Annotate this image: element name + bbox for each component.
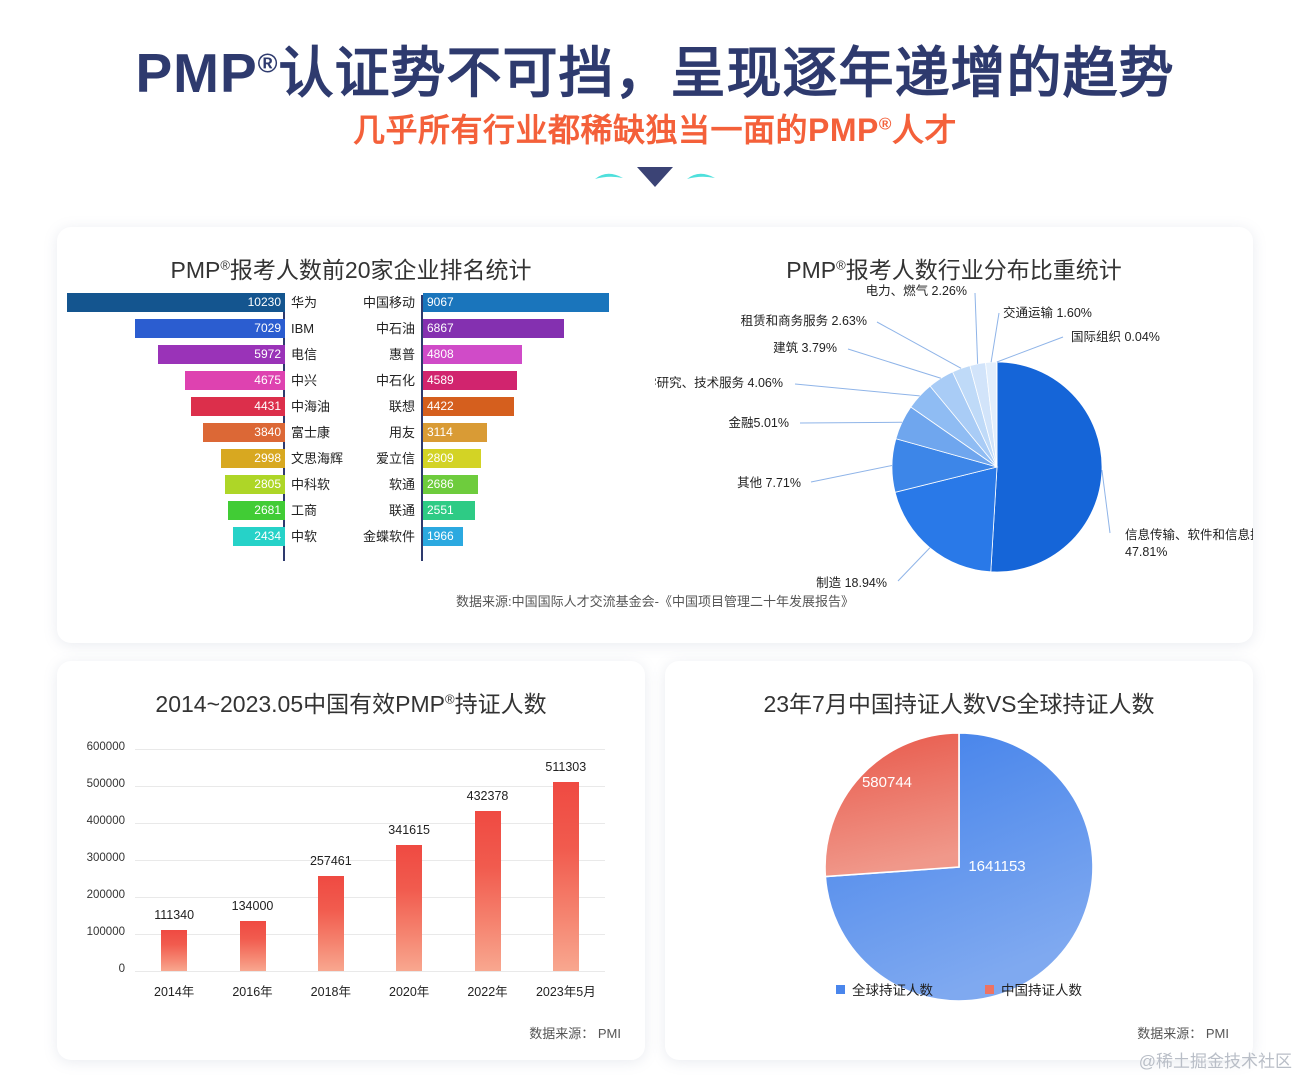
bar-value: 3114 (423, 423, 453, 442)
bar-value: 10230 (248, 293, 285, 312)
gridline (135, 860, 605, 861)
y-axis-tick: 600000 (65, 741, 125, 753)
pie-slice (991, 362, 1102, 572)
bar-label: 用友 (389, 423, 415, 442)
page-header: PMP®认证势不可挡，呈现逐年递增的趋势 几乎所有行业都稀缺独当一面的PMP®人… (0, 0, 1310, 200)
vs-source-note: 数据来源： PMI (1137, 1023, 1229, 1042)
bar: 2805 (225, 475, 285, 494)
bar-label: 电信 (291, 345, 317, 364)
column-bar (318, 876, 344, 971)
bar-value: 4675 (254, 371, 285, 390)
registered-mark-icon: ® (220, 257, 230, 272)
vs-card: 23年7月中国持证人数VS全球持证人数 1641153580744 全球持证人数… (665, 661, 1253, 1060)
column-value: 257461 (296, 854, 366, 868)
bar-row: 5972电信 (67, 345, 347, 364)
bar-label: 中石化 (376, 371, 415, 390)
legend-label: 中国持证人数 (1001, 979, 1082, 999)
bar-row: 2434中软 (67, 527, 347, 546)
pie-label: 租赁和商务服务 2.63% (741, 313, 867, 328)
title-prefix: 2014~2023.05中国有效PMP (155, 691, 445, 717)
page-subtitle-rest: 人才 (892, 112, 957, 148)
pie-label: 其他 7.71% (737, 476, 801, 490)
y-axis-tick: 300000 (65, 852, 125, 864)
companies-source-note: 数据来源:中国国际人才交流基金会-《中国项目管理二十年发展报告》 (57, 591, 1253, 610)
bar: 9067 (423, 293, 609, 312)
bar: 2998 (221, 449, 285, 468)
bar-row: 2681工商 (67, 501, 347, 520)
pie-label: 国际组织 0.04% (1071, 330, 1160, 344)
bar-label: 中海油 (291, 397, 330, 416)
bar-row: 6867中石油 (355, 319, 635, 338)
pie-slice (825, 733, 959, 877)
column-bar (240, 921, 266, 971)
bar: 3840 (203, 423, 285, 442)
companies-bar-chart: 10230华为7029IBM5972电信4675中兴4431中海油3840富士康… (57, 293, 645, 563)
bar-row: 2998文思海辉 (67, 449, 347, 468)
x-axis-tick: 2014年 (135, 981, 213, 1000)
x-axis-tick: 2020年 (370, 981, 448, 1000)
pie-label: 电力、燃气 2.26% (866, 283, 967, 298)
bar-row: 2551联通 (355, 501, 635, 520)
legend-swatch-icon (836, 985, 845, 994)
pie-slice-value: 580744 (862, 774, 912, 791)
bar-label: 工商 (291, 501, 317, 520)
bar-label: 惠普 (389, 345, 415, 364)
gridline (135, 971, 605, 972)
bar-value: 9067 (423, 293, 454, 312)
holders-card: 2014~2023.05中国有效PMP®持证人数 010000020000030… (57, 661, 645, 1060)
bar: 3114 (423, 423, 487, 442)
bar-row: 10230华为 (67, 293, 347, 312)
pie-slice-value: 1641153 (968, 858, 1025, 875)
leader-line (898, 548, 930, 581)
bar-row: 9067中国移动 (355, 293, 635, 312)
bar-row: 3840富士康 (67, 423, 347, 442)
leader-line (848, 349, 941, 378)
legend-item[interactable]: 全球持证人数 (836, 979, 933, 999)
pie-label-value: 47.81% (1125, 545, 1167, 559)
bar: 10230 (67, 293, 285, 312)
title-prefix: PMP (170, 257, 220, 283)
bar-row: 4808惠普 (355, 345, 635, 364)
x-axis-tick: 2016年 (214, 981, 292, 1000)
holders-chart-title: 2014~2023.05中国有效PMP®持证人数 (57, 685, 645, 719)
column-bar (396, 845, 422, 971)
bar: 4675 (185, 371, 285, 390)
companies-and-industry-card: PMP®报考人数前20家企业排名统计 PMP®报考人数行业分布比重统计 1023… (57, 227, 1253, 643)
bar-value: 2434 (254, 527, 285, 546)
bar-label: 爱立信 (376, 449, 415, 468)
registered-mark-icon: ® (879, 114, 892, 133)
bar-value: 4589 (423, 371, 454, 390)
vs-legend: 全球持证人数中国持证人数 (665, 979, 1253, 999)
bar-label: 金蝶软件 (363, 527, 415, 546)
bar: 4422 (423, 397, 514, 416)
page-subtitle-prefix: 几乎所有行业都稀缺独当一面的PMP (353, 112, 879, 148)
holders-column-chart: 0100000200000300000400000500000600000111… (57, 731, 645, 1021)
legend-swatch-icon (985, 985, 994, 994)
pie-label: 交通运输 1.60% (1003, 305, 1092, 320)
bar-row: 3114用友 (355, 423, 635, 442)
page-title-rest: 认证势不可挡，呈现逐年递增的趋势 (279, 42, 1175, 104)
bar-label: 中兴 (291, 371, 317, 390)
registered-mark-icon: ® (445, 691, 455, 706)
bar-row: 4589中石化 (355, 371, 635, 390)
bar-label: 联想 (389, 397, 415, 416)
bar-label: 中石油 (376, 319, 415, 338)
column-value: 432378 (453, 789, 523, 803)
bar-row: 2805中科软 (67, 475, 347, 494)
leader-line (1102, 470, 1110, 533)
bar-row: 7029IBM (67, 319, 347, 338)
leader-line (800, 422, 902, 423)
bar-label: 文思海辉 (291, 449, 343, 468)
bar-label: 中国移动 (363, 293, 415, 312)
title-rest: 报考人数前20家企业排名统计 (230, 257, 532, 283)
bar-value: 7029 (254, 319, 285, 338)
vs-chart-title: 23年7月中国持证人数VS全球持证人数 (665, 685, 1253, 719)
bar-row: 2809爱立信 (355, 449, 635, 468)
bar-value: 1966 (423, 527, 454, 546)
companies-bar-column-left: 10230华为7029IBM5972电信4675中兴4431中海油3840富士康… (67, 293, 347, 563)
bar: 2809 (423, 449, 481, 468)
bar-label: 富士康 (291, 423, 330, 442)
bar: 4808 (423, 345, 522, 364)
legend-label: 全球持证人数 (852, 979, 933, 999)
pie-label: 金融5.01% (729, 415, 789, 430)
bar-value: 2681 (254, 501, 285, 520)
y-axis-tick: 200000 (65, 889, 125, 901)
bar-label: 联通 (389, 501, 415, 520)
column-bar (475, 811, 501, 971)
bar: 6867 (423, 319, 564, 338)
leader-line (811, 465, 892, 482)
bar-value: 4808 (423, 345, 454, 364)
leader-line (997, 337, 1063, 362)
gridline (135, 749, 605, 750)
bar-row: 4422联想 (355, 397, 635, 416)
vs-pie-chart: 1641153580744 (665, 719, 1253, 1019)
bar-value: 4431 (254, 397, 285, 416)
bar-row: 2686软通 (355, 475, 635, 494)
bar: 4431 (191, 397, 285, 416)
bar-label: 中科软 (291, 475, 330, 494)
legend-item[interactable]: 中国持证人数 (985, 979, 1082, 999)
column-value: 111340 (139, 908, 209, 922)
bar-value: 2809 (423, 449, 454, 468)
bar-value: 2551 (423, 501, 454, 520)
bar: 7029 (135, 319, 285, 338)
bar-label: 华为 (291, 293, 317, 312)
bar-row: 4431中海油 (67, 397, 347, 416)
y-axis-tick: 500000 (65, 778, 125, 790)
bar-label: IBM (291, 319, 314, 338)
pie-label: 建筑 3.79% (773, 340, 837, 355)
gridline (135, 786, 605, 787)
y-axis-tick: 100000 (65, 926, 125, 938)
gridline (135, 897, 605, 898)
bar-label: 中软 (291, 527, 317, 546)
bar-value: 3840 (254, 423, 285, 442)
gridline (135, 823, 605, 824)
bar: 2551 (423, 501, 475, 520)
pie-label: 科学研究、技术服务 4.06% (655, 375, 783, 390)
leader-line (991, 313, 999, 362)
companies-chart-title: PMP®报考人数前20家企业排名统计 (57, 251, 645, 285)
x-axis-tick: 2023年5月 (527, 981, 605, 1000)
bar-label: 软通 (389, 475, 415, 494)
bar: 4589 (423, 371, 517, 390)
column-value: 511303 (531, 760, 601, 774)
bar: 2681 (228, 501, 285, 520)
bar: 2686 (423, 475, 478, 494)
bar-row: 1966金蝶软件 (355, 527, 635, 546)
pie-label: 信息传输、软件和信息技术服务 (1125, 527, 1253, 542)
infographic-page: PMP®认证势不可挡，呈现逐年递增的趋势 几乎所有行业都稀缺独当一面的PMP®人… (0, 0, 1310, 1080)
column-value: 134000 (218, 899, 288, 913)
y-axis-tick: 400000 (65, 815, 125, 827)
leader-line (795, 384, 920, 396)
page-title-prefix: PMP (135, 42, 257, 104)
bar-value: 2686 (423, 475, 454, 494)
bar-value: 5972 (254, 345, 285, 364)
leader-line (877, 322, 961, 368)
x-axis-tick: 2022年 (449, 981, 527, 1000)
bar-value: 4422 (423, 397, 454, 416)
page-title: PMP®认证势不可挡，呈现逐年递增的趋势 (0, 28, 1310, 108)
x-axis-tick: 2018年 (292, 981, 370, 1000)
pie-label: 制造 18.94% (816, 576, 887, 590)
down-triangle-icon (583, 163, 727, 191)
vs-pie-svg: 1641153580744 (665, 719, 1253, 1019)
companies-bar-column-right: 9067中国移动6867中石油4808惠普4589中石化4422联想3114用友… (355, 293, 635, 563)
bar-row: 4675中兴 (67, 371, 347, 390)
bar: 5972 (158, 345, 285, 364)
column-value: 341615 (374, 823, 444, 837)
page-subtitle: 几乎所有行业都稀缺独当一面的PMP®人才 (0, 105, 1310, 151)
bar-value: 6867 (423, 319, 454, 338)
title-rest: 持证人数 (455, 691, 547, 717)
gridline (135, 934, 605, 935)
bar-value: 2998 (254, 449, 285, 468)
bar-value: 2805 (254, 475, 285, 494)
bar: 1966 (423, 527, 463, 546)
registered-mark-icon: ® (258, 49, 279, 79)
column-bar (553, 782, 579, 971)
y-axis-tick: 0 (65, 963, 125, 975)
watermark: @稀土掘金技术社区 (1139, 1047, 1292, 1072)
industry-pie-svg: 信息传输、软件和信息技术服务47.81%制造 18.94%其他 7.71%金融5… (655, 267, 1253, 597)
bar: 2434 (233, 527, 285, 546)
column-bar (161, 930, 187, 971)
leader-line (975, 293, 978, 364)
industry-pie-chart: 信息传输、软件和信息技术服务47.81%制造 18.94%其他 7.71%金融5… (655, 267, 1253, 597)
holders-source-note: 数据来源： PMI (529, 1023, 621, 1042)
